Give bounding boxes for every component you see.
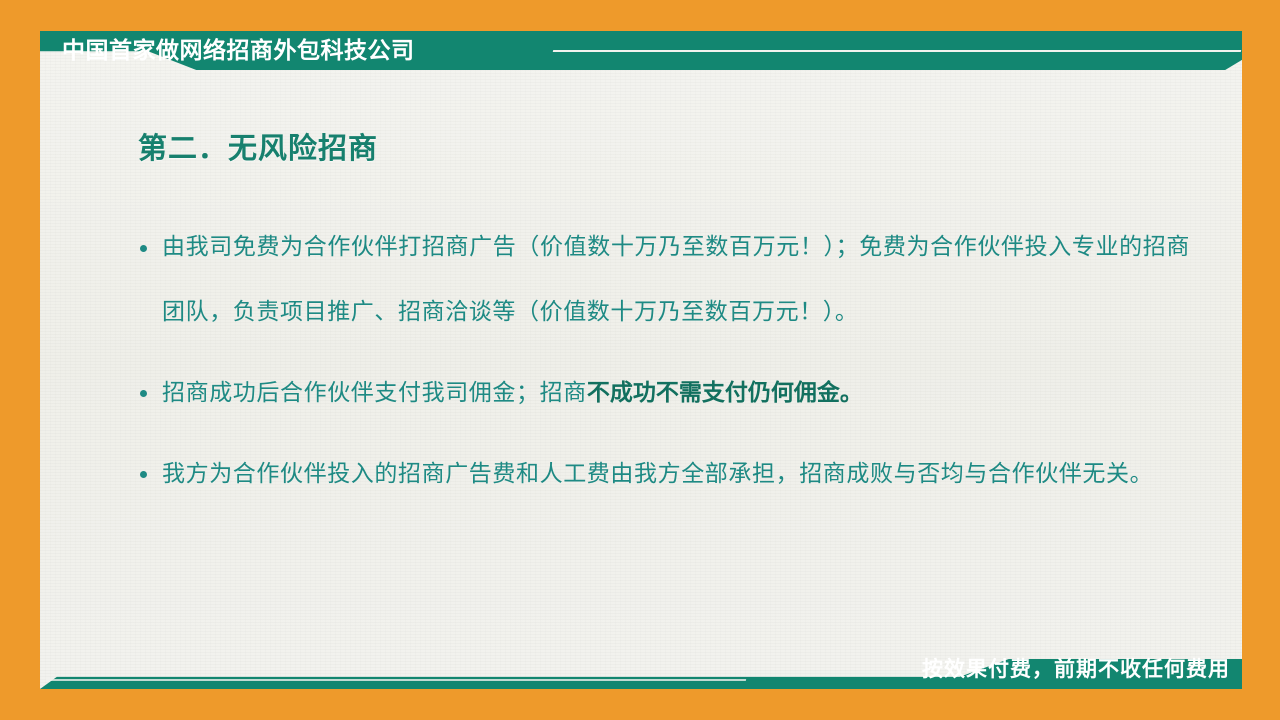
bullet-text-plain: 我方为合作伙伴投入的招商广告费和人工费由我方全部承担，招商成败与否均与合作伙伴无… xyxy=(162,461,1153,486)
list-item: 招商成功后合作伙伴支付我司佣金；招商不成功不需支付仍何佣金。 xyxy=(130,360,1190,425)
bullet-list: 由我司免费为合作伙伴打招商广告（价值数十万乃至数百万元！）；免费为合作伙伴投入专… xyxy=(130,215,1190,506)
footer-divider-line xyxy=(46,679,746,681)
header-title: 中国首家做网络招商外包科技公司 xyxy=(40,33,415,68)
list-item: 由我司免费为合作伙伴打招商广告（价值数十万乃至数百万元！）；免费为合作伙伴投入专… xyxy=(130,215,1190,344)
bullet-text-plain: 招商成功后合作伙伴支付我司佣金；招商 xyxy=(162,380,587,405)
bullet-text-emphasis: 不成功不需支付仍何佣金。 xyxy=(587,379,863,405)
list-item: 我方为合作伙伴投入的招商广告费和人工费由我方全部承担，招商成败与否均与合作伙伴无… xyxy=(130,441,1190,506)
footer-slogan: 按效果付费，前期不收任何费用 xyxy=(922,650,1230,689)
page-title: 第二．无风险招商 xyxy=(138,125,1190,167)
slide: 中国首家做网络招商外包科技公司 第二．无风险招商 由我司免费为合作伙伴打招商广告… xyxy=(0,0,1280,720)
slide-content: 第二．无风险招商 由我司免费为合作伙伴打招商广告（价值数十万乃至数百万元！）；免… xyxy=(130,125,1190,522)
bullet-text-plain: 由我司免费为合作伙伴打招商广告（价值数十万乃至数百万元！）；免费为合作伙伴投入专… xyxy=(162,234,1190,324)
header-divider-line xyxy=(553,50,1241,52)
